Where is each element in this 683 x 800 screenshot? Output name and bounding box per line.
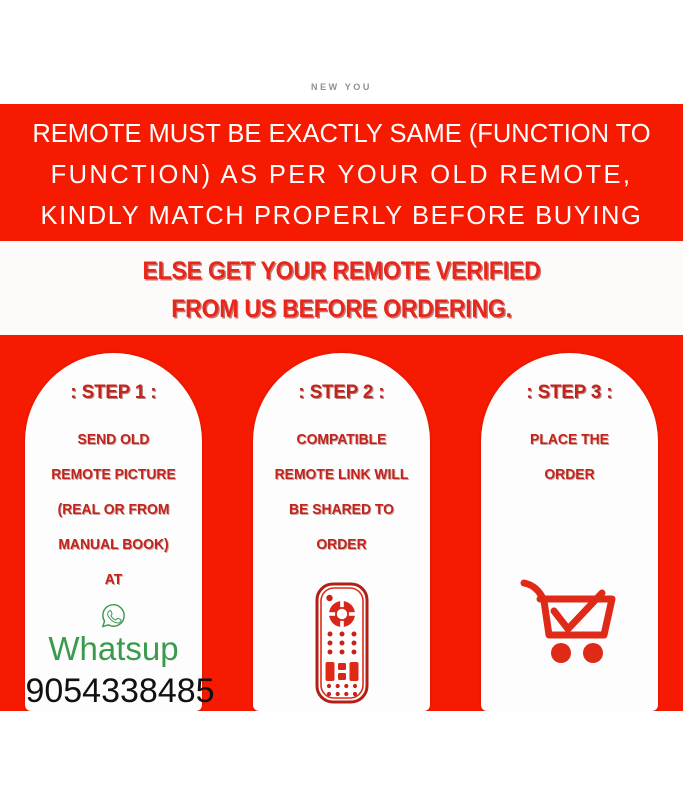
step-3-title: : STEP 3 : — [485, 381, 653, 404]
step-1-line-2: REMOTE PICTURE — [32, 458, 194, 493]
step-2-line-4: ORDER — [260, 528, 422, 563]
subhead-line-2: FROM US BEFORE ORDERING. — [27, 290, 655, 328]
instruction-banner: REMOTE MUST BE EXACTLY SAME (FUNCTION TO… — [0, 104, 683, 241]
step-1-line-4: MANUAL BOOK) — [32, 528, 194, 563]
whatsapp-number: 9054338485 — [0, 671, 240, 711]
remote-control-icon — [253, 581, 430, 705]
subhead-line-1: ELSE GET YOUR REMOTE VERIFIED — [27, 252, 655, 290]
step-2-body: COMPATIBLE REMOTE LINK WILL BE SHARED TO… — [257, 423, 426, 563]
verify-subheadline: ELSE GET YOUR REMOTE VERIFIED FROM US BE… — [0, 241, 683, 335]
steps-section: : STEP 1 : SEND OLD REMOTE PICTURE (REAL… — [0, 335, 683, 711]
whatsapp-label: Whatsup — [25, 629, 202, 669]
step-panel-2: : STEP 2 : COMPATIBLE REMOTE LINK WILL B… — [253, 353, 430, 711]
step-1-line-1: SEND OLD — [32, 423, 194, 458]
banner-line-3: KINDLY MATCH PROPERLY BEFORE BUYING — [0, 196, 683, 237]
step-2-line-2: REMOTE LINK WILL — [260, 458, 422, 493]
step-panel-3: : STEP 3 : PLACE THE ORDER — [481, 353, 658, 711]
step-panel-1: : STEP 1 : SEND OLD REMOTE PICTURE (REAL… — [25, 353, 202, 711]
step-2-line-3: BE SHARED TO — [260, 493, 422, 528]
step-3-line-1: PLACE THE — [488, 423, 650, 458]
step-1-line-5: AT — [32, 563, 194, 598]
step-1-title: : STEP 1 : — [29, 381, 197, 404]
banner-line-2: FUNCTION) AS PER YOUR OLD REMOTE, — [0, 155, 683, 196]
step-2-title: : STEP 2 : — [257, 381, 425, 404]
watermark-text: NEW YOU — [0, 82, 683, 92]
step-1-body: SEND OLD REMOTE PICTURE (REAL OR FROM MA… — [29, 423, 198, 598]
step-3-line-2: ORDER — [488, 458, 650, 493]
step-2-line-1: COMPATIBLE — [260, 423, 422, 458]
banner-line-1: REMOTE MUST BE EXACTLY SAME (FUNCTION TO — [0, 114, 683, 155]
step-3-body: PLACE THE ORDER — [485, 423, 654, 493]
step-1-line-3: (REAL OR FROM — [32, 493, 194, 528]
bottom-whitespace — [0, 711, 683, 800]
whatsapp-icon — [25, 602, 202, 629]
shopping-cart-check-icon — [481, 575, 658, 667]
promo-poster: NEW YOU REMOTE MUST BE EXACTLY SAME (FUN… — [0, 0, 683, 800]
